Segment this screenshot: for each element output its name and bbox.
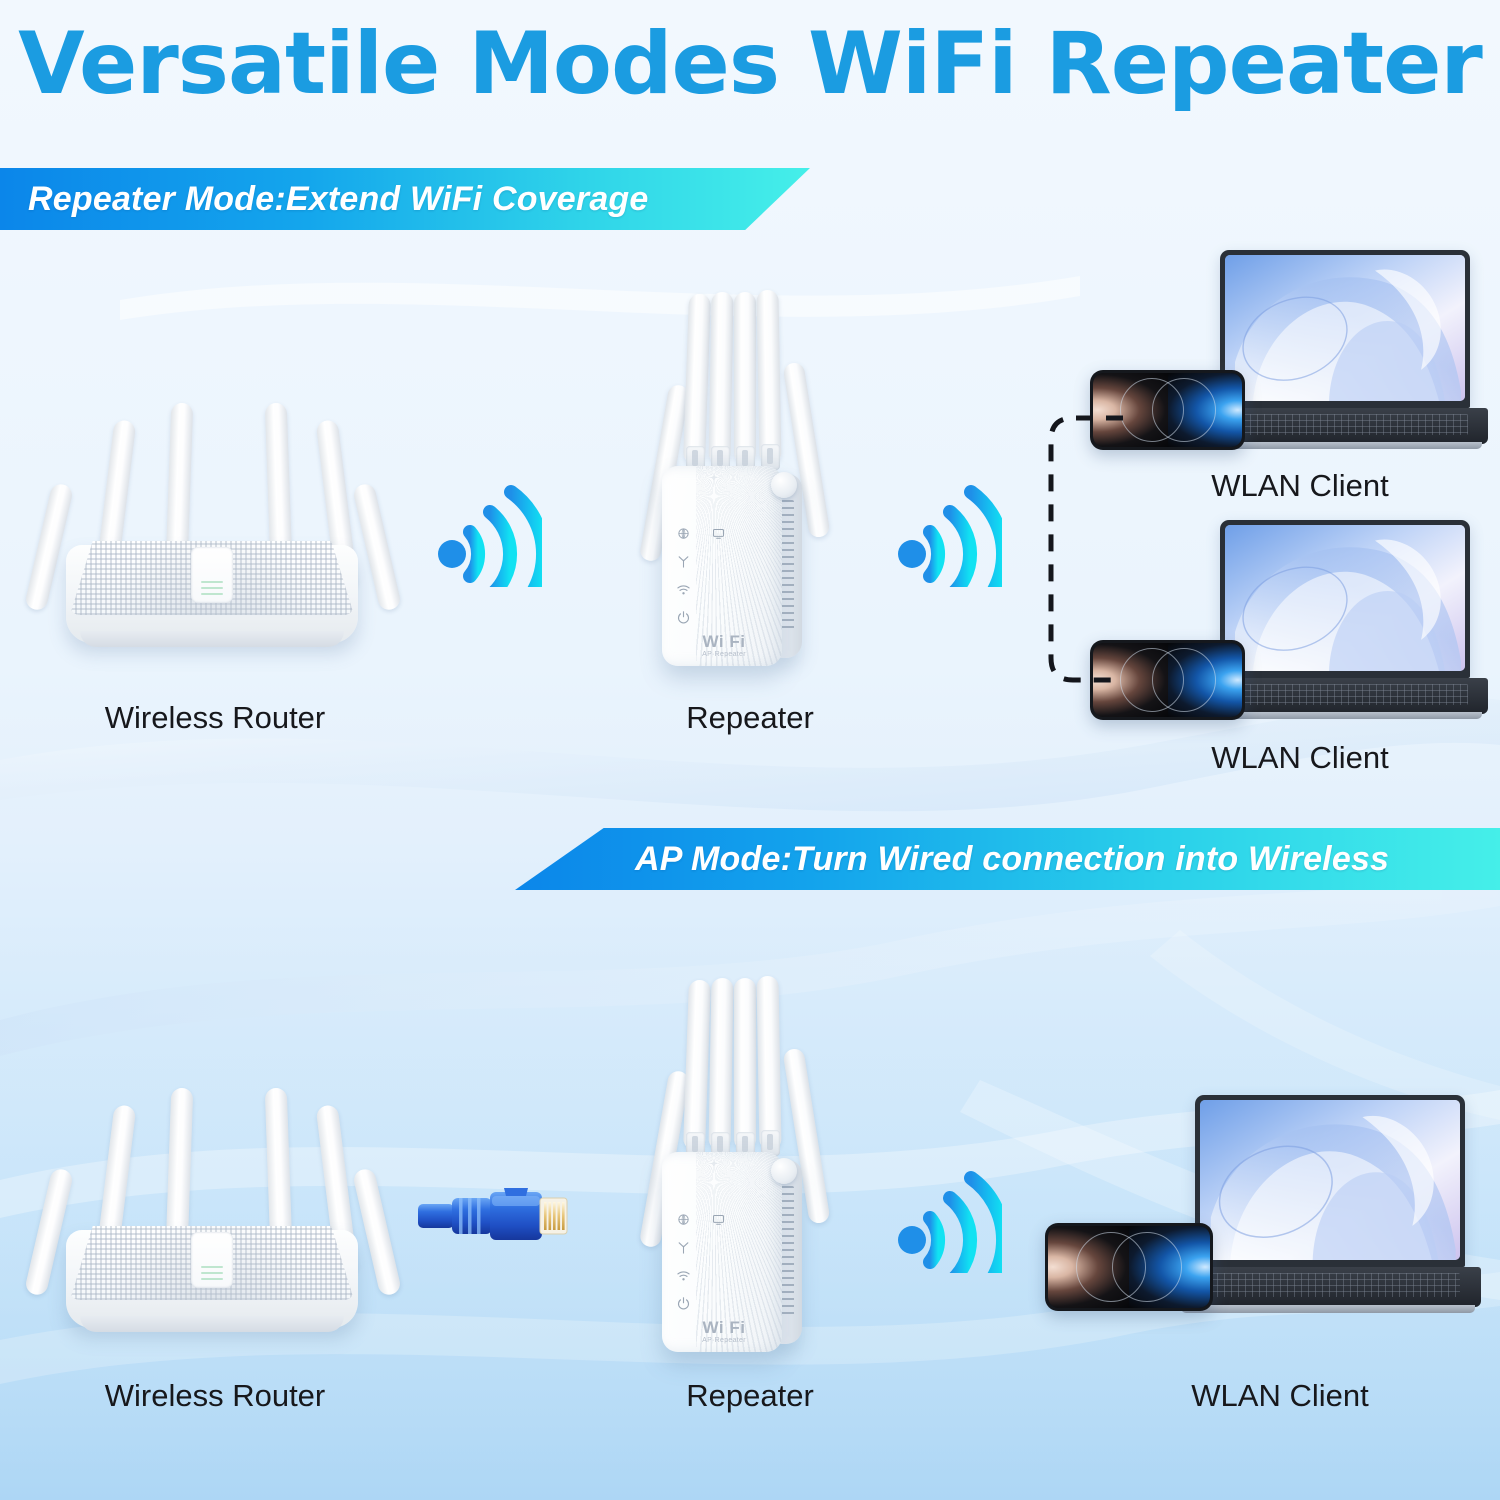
router2-antenna-6 (352, 1167, 402, 1297)
infographic-page: Versatile Modes WiFi Repeater Repeater M… (0, 0, 1500, 1500)
ribbon-ap-mode-label: AP Mode:Turn Wired connection into Wirel… (635, 840, 1389, 879)
router2-led-1 (201, 1266, 223, 1268)
router2-led-2 (201, 1272, 223, 1274)
phone-2-arc-right (1152, 648, 1216, 712)
laptop-3-lid (1195, 1095, 1465, 1267)
router-led-3 (201, 593, 223, 595)
laptop-1-keys (1222, 414, 1468, 435)
ribbon-ap-mode: AP Mode:Turn Wired connection into Wirel… (515, 828, 1500, 890)
router-antenna-6 (352, 482, 402, 612)
laptop-1-lid (1220, 250, 1470, 408)
router2-base (80, 1316, 344, 1332)
phone-3-arc-right (1112, 1232, 1182, 1302)
laptop-2-foot (1208, 712, 1482, 719)
rj45-ethernet-plug-icon (418, 1178, 578, 1256)
repeater-antenna-1 (683, 294, 711, 465)
laptop-3-screen (1200, 1100, 1460, 1260)
repeater2-antenna-3 (734, 978, 756, 1150)
wifi-icon (676, 1268, 691, 1283)
signal-icon (676, 554, 691, 569)
laptop-3-keys (1196, 1273, 1459, 1296)
wifi-repeater-device: Wi Fi AP·Repeater (638, 284, 868, 684)
wireless-router-device-2 (28, 1080, 398, 1370)
caption-repeater-2: Repeater (600, 1378, 900, 1414)
caption-wireless-router: Wireless Router (0, 700, 430, 736)
phone-1-arc-right (1152, 378, 1216, 442)
repeater2-antenna-2 (709, 978, 734, 1150)
router-led-1 (201, 581, 223, 583)
router2-led-3 (201, 1278, 223, 1280)
phone-3-screen (1048, 1226, 1210, 1308)
repeater2-antenna-4 (756, 976, 781, 1150)
wlan-client-group-1 (1090, 250, 1490, 500)
router-led-2 (201, 587, 223, 589)
router-indicator-panel (191, 547, 233, 603)
lan-icon (711, 1212, 726, 1227)
router2-indicator-panel (191, 1232, 233, 1288)
repeater-antenna-4 (756, 290, 781, 464)
repeater-antenna-2 (709, 292, 734, 464)
wlan-client-group-2 (1090, 520, 1490, 770)
laptop-3-keyboard-base (1175, 1267, 1481, 1307)
repeater2-brand-mark: Wi Fi AP·Repeater (684, 1318, 764, 1344)
caption-wlan-client-3: WLAN Client (1090, 1378, 1470, 1414)
laptop-1-screen (1225, 255, 1465, 401)
wlan-client-group-3 (1045, 1095, 1485, 1355)
wireless-router-device (28, 395, 398, 685)
dashed-connection-icon (1018, 400, 1128, 700)
caption-repeater: Repeater (600, 700, 900, 736)
wifi-waves-repeater-to-client-ap (892, 1168, 1002, 1273)
power-icon (676, 610, 691, 625)
caption-wireless-router-2: Wireless Router (0, 1378, 430, 1414)
repeater-brand-text: Wi Fi (703, 632, 746, 652)
wps-icon (676, 1212, 691, 1227)
phone-3 (1045, 1223, 1213, 1311)
repeater2-side-knob (771, 1158, 797, 1184)
signal-icon (676, 1240, 691, 1255)
repeater-antenna-3 (734, 292, 756, 464)
repeater2-sub-text: AP·Repeater (684, 1337, 764, 1344)
laptop-2-lid (1220, 520, 1470, 678)
power-icon (676, 1296, 691, 1311)
laptop-2-keys (1222, 684, 1468, 705)
laptop-1 (1202, 250, 1492, 455)
repeater-brand-mark: Wi Fi AP·Repeater (684, 632, 764, 658)
ribbon-repeater-mode-label: Repeater Mode:Extend WiFi Coverage (28, 180, 649, 219)
caption-wlan-client-2: WLAN Client (1110, 740, 1490, 776)
wifi-repeater-device-2: Wi Fi AP·Repeater (638, 970, 868, 1370)
repeater-sub-text: AP·Repeater (684, 651, 764, 658)
wifi-waves-repeater-to-client (892, 482, 1002, 587)
laptop-2 (1202, 520, 1492, 725)
repeater2-antenna-1 (683, 980, 711, 1151)
laptop-3 (1175, 1095, 1485, 1320)
router-base (80, 631, 344, 647)
lan-icon (711, 526, 726, 541)
page-title: Versatile Modes WiFi Repeater (0, 14, 1500, 114)
caption-wlan-client-1: WLAN Client (1110, 468, 1490, 504)
repeater2-brand-text: Wi Fi (703, 1318, 746, 1338)
laptop-2-screen (1225, 525, 1465, 671)
laptop-1-foot (1208, 442, 1482, 449)
wifi-waves-router-to-repeater (432, 482, 542, 587)
laptop-3-foot (1181, 1305, 1475, 1313)
wps-icon (676, 526, 691, 541)
ribbon-repeater-mode: Repeater Mode:Extend WiFi Coverage (0, 168, 810, 230)
wifi-icon (676, 582, 691, 597)
repeater-side-knob (771, 472, 797, 498)
